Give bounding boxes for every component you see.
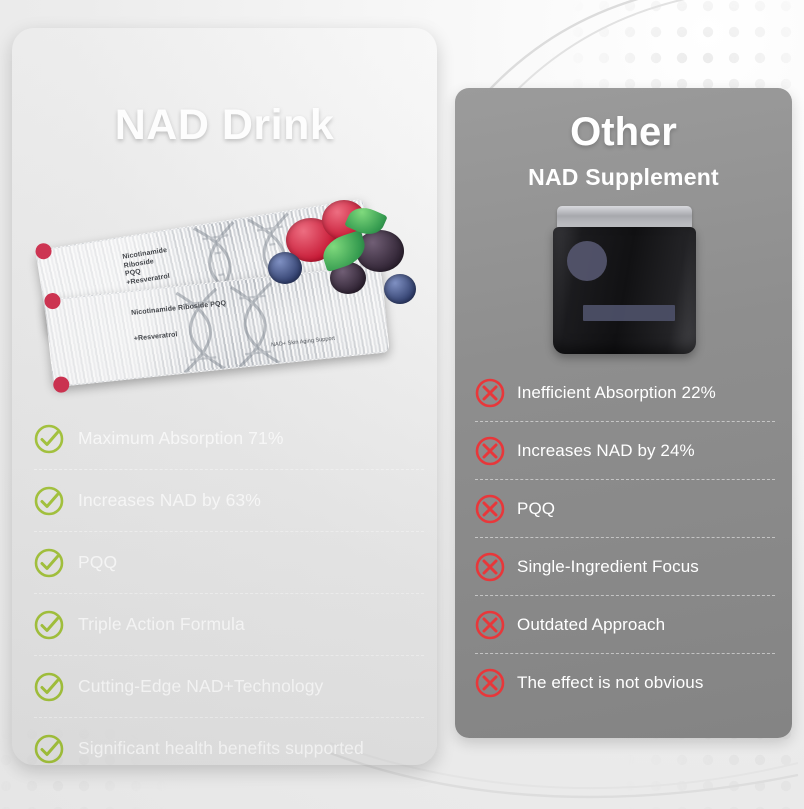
- list-item-label: Increases NAD by 63%: [78, 490, 261, 511]
- nad-drink-card: NAD Drink: [12, 28, 437, 765]
- list-item-label: Significant health benefits supported: [78, 738, 364, 759]
- nad-drink-product-image: Nicotinamide Riboside PQQ +Resveratrol N…: [34, 190, 424, 402]
- blueberry-2: [384, 274, 416, 304]
- right-card-title: Other: [455, 110, 792, 155]
- list-item-label: PQQ: [517, 499, 555, 519]
- list-item-label: Single-Ingredient Focus: [517, 557, 699, 577]
- list-item: The effect is not obvious: [475, 654, 775, 711]
- berry-cluster-image: [256, 190, 421, 340]
- list-item-label: Inefficient Absorption 22%: [517, 383, 716, 403]
- list-item: Triple Action Formula: [34, 594, 424, 656]
- list-item-label: Outdated Approach: [517, 615, 665, 635]
- right-card-subtitle: NAD Supplement: [455, 164, 792, 191]
- list-item: Cutting-Edge NAD+Technology: [34, 656, 424, 718]
- cross-circle-icon: [475, 436, 505, 466]
- jar-body: [553, 227, 696, 354]
- list-item-label: Increases NAD by 24%: [517, 441, 695, 461]
- check-circle-icon: [34, 486, 64, 516]
- check-circle-icon: [34, 548, 64, 578]
- nad-drink-feature-list: Maximum Absorption 71% Increases NAD by …: [34, 408, 424, 765]
- jar-label: [583, 305, 675, 321]
- list-item: Maximum Absorption 71%: [34, 408, 424, 470]
- cross-circle-icon: [475, 552, 505, 582]
- list-item: Inefficient Absorption 22%: [475, 364, 775, 422]
- list-item: Increases NAD by 63%: [34, 470, 424, 532]
- cross-circle-icon: [475, 378, 505, 408]
- list-item: PQQ: [475, 480, 775, 538]
- check-circle-icon: [34, 424, 64, 454]
- other-supplement-card: Other NAD Supplement Inefficient Absorpt…: [455, 88, 792, 738]
- list-item: PQQ: [34, 532, 424, 594]
- other-supplement-feature-list: Inefficient Absorption 22% Increases NAD…: [475, 364, 775, 711]
- supplement-jar-image: [547, 206, 702, 356]
- cross-circle-icon: [475, 494, 505, 524]
- jar-lid: [557, 206, 692, 228]
- cross-circle-icon: [475, 668, 505, 698]
- list-item-label: Cutting-Edge NAD+Technology: [78, 676, 323, 697]
- list-item-label: Triple Action Formula: [78, 614, 245, 635]
- list-item-label: Maximum Absorption 71%: [78, 428, 283, 449]
- comparison-infographic: NAD Drink: [0, 0, 804, 809]
- list-item-label: PQQ: [78, 552, 117, 573]
- check-circle-icon: [34, 610, 64, 640]
- list-item: Increases NAD by 24%: [475, 422, 775, 480]
- list-item: Single-Ingredient Focus: [475, 538, 775, 596]
- check-circle-icon: [34, 734, 64, 764]
- sachet-sub-text-2: +Resveratrol: [134, 331, 178, 344]
- list-item-label: The effect is not obvious: [517, 673, 703, 693]
- jar-badge: [567, 241, 607, 281]
- list-item: Outdated Approach: [475, 596, 775, 654]
- left-card-title: NAD Drink: [12, 101, 437, 150]
- cross-circle-icon: [475, 610, 505, 640]
- blueberry: [268, 252, 302, 284]
- check-circle-icon: [34, 672, 64, 702]
- list-item: Significant health benefits supported: [34, 718, 424, 765]
